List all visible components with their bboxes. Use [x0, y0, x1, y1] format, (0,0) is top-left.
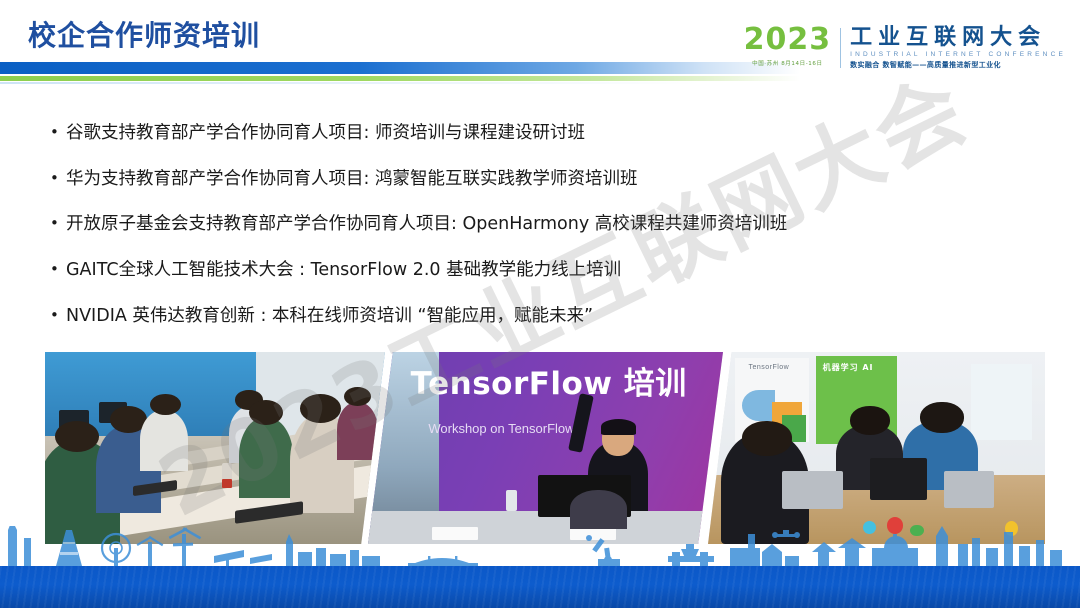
page-title: 校企合作师资培训: [28, 14, 260, 54]
robot-arm-icon: [586, 535, 620, 566]
wind-turbine-icon: [137, 527, 202, 566]
person: [337, 402, 378, 460]
logo-year: 2023: [744, 26, 832, 55]
bullet-marker-icon: •: [50, 213, 66, 235]
pagoda-icon: [812, 538, 866, 566]
person-head: [55, 421, 99, 452]
solar-panel-icon: [214, 550, 272, 566]
photo-tensorflow-scene: TensorFlow 培训 Workshop on TensorFlow: [368, 352, 723, 544]
bridge-icon: [408, 556, 478, 566]
list-item: • GAITC全球人工智能技术大会 : TensorFlow 2.0 基础教学能…: [50, 259, 1010, 283]
dome-building-icon: [872, 534, 918, 566]
needle-tower-icon: [8, 526, 31, 566]
eiffel-tower-icon: [56, 530, 82, 566]
bullet-marker-icon: •: [50, 305, 66, 327]
logo-name-cn: 工业互联网大会: [850, 26, 1066, 49]
conference-logo: 2023 中国·苏州 8月14日-16日 工业互联网大会 INDUSTRIAL …: [744, 26, 1066, 70]
person-head: [300, 394, 341, 423]
poster-label: TensorFlow: [748, 364, 789, 371]
whiteboard: [971, 364, 1032, 441]
green-banner-label: 机器学习 AI: [823, 362, 874, 373]
foreground-head: [570, 490, 627, 528]
logo-divider: [840, 28, 841, 68]
footer-bar: [0, 566, 1080, 608]
laptop: [944, 471, 995, 507]
photo-strip: TensorFlow 培训 Workshop on TensorFlow Ten…: [0, 352, 1080, 544]
photo-classroom: [45, 352, 385, 544]
poster-graphic: [742, 390, 776, 421]
list-item-label: NVIDIA 英伟达教育创新 : 本科在线师资培训 “智能应用，赋能未来”: [66, 305, 1010, 329]
header-accent-bar-thin: [0, 82, 700, 84]
skyline-decoration: [0, 526, 1080, 566]
person-head: [344, 387, 371, 406]
photo-maker-workshop: TensorFlow 机器学习 AI: [708, 352, 1045, 544]
person: [239, 417, 293, 498]
skyscraper-icon: [958, 532, 1062, 566]
list-item-label: GAITC全球人工智能技术大会 : TensorFlow 2.0 基础教学能力线…: [66, 259, 1010, 283]
list-item-label: 开放原子基金会支持教育部产学合作协同育人项目: OpenHarmony 高校课程…: [66, 213, 1010, 237]
city-block-icon: [286, 534, 380, 566]
tower-icon: [936, 526, 948, 566]
person-head: [850, 406, 890, 435]
photo-tensorflow-training: TensorFlow 培训 Workshop on TensorFlow: [368, 352, 723, 544]
bullet-marker-icon: •: [50, 122, 66, 144]
list-item: • 开放原子基金会支持教育部产学合作协同育人项目: OpenHarmony 高校…: [50, 213, 1010, 237]
bullet-list: • 谷歌支持教育部产学合作协同育人项目: 师资培训与课程建设研讨班 • 华为支持…: [50, 122, 1010, 350]
logo-year-subtitle: 中国·苏州 8月14日-16日: [744, 59, 832, 67]
slide-root: 2023工业互联网大会 校企合作师资培训 2023 中国·苏州 8月14日-16…: [0, 0, 1080, 608]
drone-icon: [772, 530, 800, 538]
bullet-marker-icon: •: [50, 168, 66, 190]
header-accent-bar-blue: [0, 62, 800, 74]
list-item-label: 谷歌支持教育部产学合作协同育人项目: 师资培训与课程建设研讨班: [66, 122, 1010, 146]
speaker-hair: [601, 419, 637, 434]
logo-name-block: 工业互联网大会 INDUSTRIAL INTERNET CONFERENCE 数…: [850, 26, 1066, 70]
list-item: • 谷歌支持教育部产学合作协同育人项目: 师资培训与课程建设研讨班: [50, 122, 1010, 146]
laptop: [870, 458, 927, 500]
backdrop-title: TensorFlow 培训: [411, 358, 687, 403]
logo-name-en: INDUSTRIAL INTERNET CONFERENCE: [850, 51, 1066, 58]
list-item: • NVIDIA 英伟达教育创新 : 本科在线师资培训 “智能应用，赋能未来”: [50, 305, 1010, 329]
header-accent-bar-green: [0, 76, 800, 81]
logo-year-block: 2023 中国·苏州 8月14日-16日: [744, 26, 841, 67]
backdrop-subtitle: Workshop on TensorFlow: [428, 421, 574, 436]
person: [140, 410, 188, 471]
photo-maker-scene: TensorFlow 机器学习 AI: [708, 352, 1045, 544]
laptop: [782, 471, 843, 509]
pipe-valve-icon: [668, 544, 714, 566]
bullet-marker-icon: •: [50, 259, 66, 281]
list-item: • 华为支持教育部产学合作协同育人项目: 鸿蒙智能互联实践教学师资培训班: [50, 168, 1010, 192]
person-head: [920, 402, 964, 433]
person-head: [742, 421, 793, 456]
list-item-label: 华为支持教育部产学合作协同育人项目: 鸿蒙智能互联实践教学师资培训班: [66, 168, 1010, 192]
water-bottle: [506, 490, 517, 511]
bottle-label: [222, 479, 232, 489]
factory-icon: [730, 534, 799, 566]
logo-tagline: 数实融合 数智赋能——高质量推进新型工业化: [850, 60, 1066, 70]
ferris-wheel-icon: [102, 534, 130, 566]
person-head: [249, 400, 283, 425]
photo-classroom-scene: [45, 352, 385, 544]
